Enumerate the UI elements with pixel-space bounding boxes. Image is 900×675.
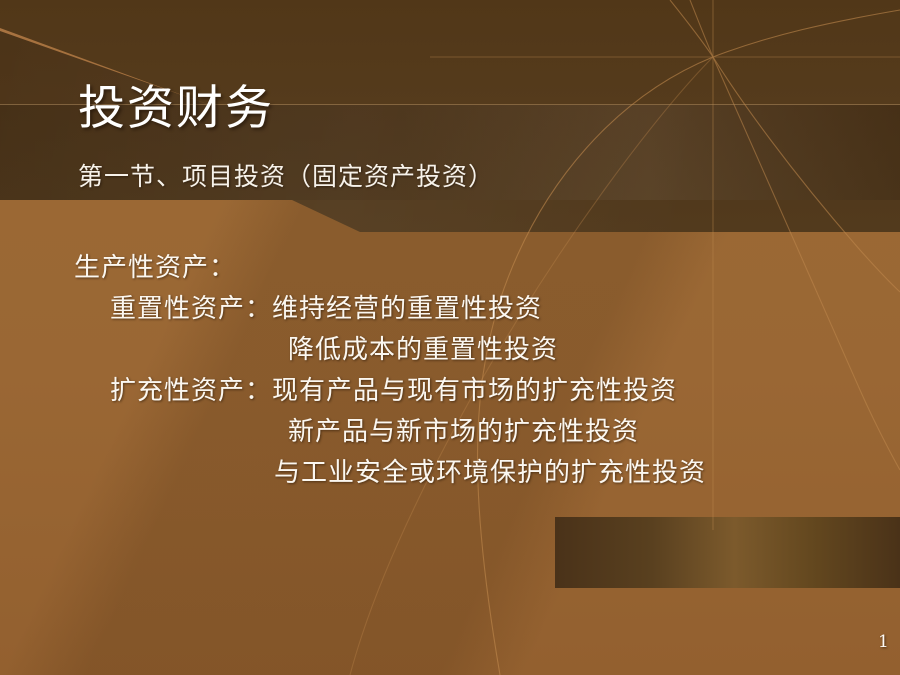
body-line-4: 扩充性资产：现有产品与现有市场的扩充性投资 <box>74 371 874 412</box>
slide-body: 生产性资产： 重置性资产：维持经营的重置性投资 降低成本的重置性投资 扩充性资产… <box>74 248 874 494</box>
page-number: 1 <box>878 632 889 652</box>
presentation-slide: 投资财务 第一节、项目投资（固定资产投资） 生产性资产： 重置性资产：维持经营的… <box>0 0 900 675</box>
slide-subtitle: 第一节、项目投资（固定资产投资） <box>78 162 494 192</box>
body-line-6: 与工业安全或环境保护的扩充性投资 <box>74 453 874 494</box>
background-bottom-plate <box>555 517 900 588</box>
body-line-3: 降低成本的重置性投资 <box>74 330 874 371</box>
body-line-1: 生产性资产： <box>74 248 874 289</box>
body-line-2: 重置性资产：维持经营的重置性投资 <box>74 289 874 330</box>
body-line-5: 新产品与新市场的扩充性投资 <box>74 412 874 453</box>
slide-title: 投资财务 <box>78 82 274 136</box>
